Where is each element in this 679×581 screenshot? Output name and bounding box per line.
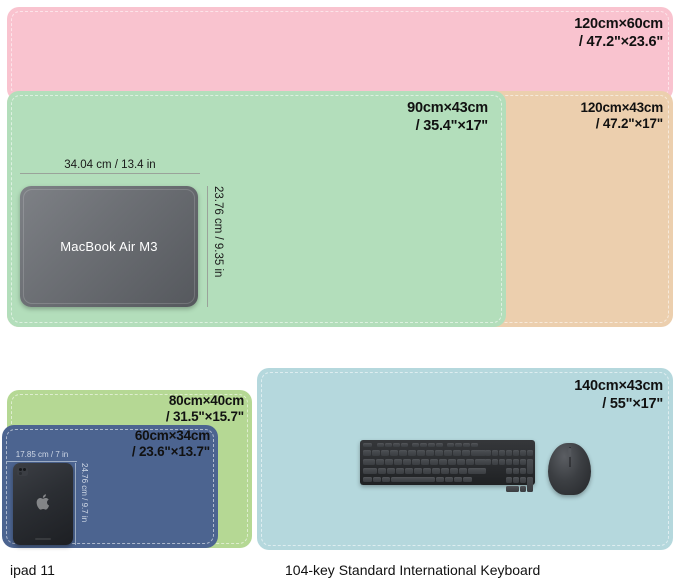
key[interactable] [513, 459, 519, 465]
ipad-height-text: 24.76 cm / 9.7 in [80, 463, 89, 522]
macbook-height-text: 23.76 cm / 9.35 in [212, 186, 224, 277]
key[interactable] [506, 477, 512, 483]
key[interactable] [376, 459, 384, 465]
key[interactable] [444, 450, 452, 456]
keyboard-bottom-row [363, 477, 473, 482]
macbook-height-rule [207, 186, 208, 307]
key[interactable] [453, 450, 461, 456]
key[interactable] [455, 443, 462, 447]
tan-mat-imperial: / 47.2"×17" [596, 116, 663, 131]
keyboard-device[interactable] [360, 440, 535, 485]
key[interactable] [520, 468, 526, 474]
keyboard-function-row [363, 443, 479, 447]
alt-key[interactable] [436, 477, 444, 482]
macbook-width-text: 34.04 cm / 13.4 in [64, 159, 155, 171]
numpad-row [506, 450, 534, 456]
key[interactable] [408, 450, 416, 456]
macbook-height-callout: 23.76 cm / 9.35 in [212, 186, 224, 307]
capslock-key[interactable] [363, 468, 377, 474]
key[interactable] [471, 443, 478, 447]
green-small-mat-dimension-label: 80cm×40cm/ 31.5"×15.7" [92, 393, 244, 426]
key[interactable] [363, 450, 371, 456]
key[interactable] [417, 450, 425, 456]
macbook-width-rule [20, 173, 200, 174]
key[interactable] [520, 450, 526, 456]
key[interactable] [435, 450, 443, 456]
key[interactable] [520, 459, 526, 465]
macbook-device[interactable]: MacBook Air M3 [20, 186, 198, 307]
teal-mat-metric: 140cm×43cm [574, 378, 663, 394]
key[interactable] [401, 443, 408, 447]
plus-key[interactable] [527, 459, 533, 474]
key[interactable] [492, 450, 498, 456]
alt-key[interactable] [382, 477, 390, 482]
key[interactable] [405, 468, 413, 474]
key[interactable] [394, 459, 402, 465]
spacebar-key[interactable] [391, 477, 435, 482]
key[interactable] [393, 443, 400, 447]
green-large-mat-dimension-label: 90cm×43cm/ 35.4"×17" [318, 100, 488, 135]
mouse-device[interactable] [548, 443, 591, 495]
key[interactable] [450, 468, 458, 474]
key[interactable] [513, 468, 519, 474]
key[interactable] [403, 459, 411, 465]
key[interactable] [387, 468, 395, 474]
key[interactable] [485, 459, 491, 465]
key[interactable] [492, 459, 498, 465]
ipad-device[interactable] [13, 463, 73, 545]
ipad-height-callout: 24.76 cm / 9.7 in [80, 463, 89, 545]
key[interactable] [414, 468, 422, 474]
ctrl-key[interactable] [363, 477, 372, 482]
key[interactable] [399, 450, 407, 456]
backspace-key[interactable] [471, 450, 486, 456]
tan-mat-dimension-label: 120cm×43cm/ 47.2"×17" [581, 100, 663, 133]
key[interactable] [499, 459, 505, 465]
navy-mat-metric: 60cm×34cm [135, 428, 210, 443]
key[interactable] [381, 450, 389, 456]
keyboard-caption: 104-key Standard International Keyboard [285, 562, 540, 578]
key[interactable] [426, 450, 434, 456]
keyboard-nav-cluster-2 [485, 459, 506, 465]
green-small-mat-imperial: / 31.5"×15.7" [166, 409, 244, 424]
mouse-scroll-wheel[interactable] [568, 448, 572, 457]
key[interactable] [423, 468, 431, 474]
teal-mat-dimension-label: 140cm×43cm/ 55"×17" [574, 378, 663, 413]
pink-mat-dimension-label: 120cm×60cm/ 47.2"×23.6" [574, 16, 663, 51]
ipad-width-rule [7, 461, 77, 462]
keyboard-home-row [363, 468, 487, 474]
key[interactable] [421, 459, 429, 465]
key[interactable] [520, 477, 526, 483]
ipad-width-text: 17.85 cm / 7 in [16, 450, 68, 459]
macbook-label: MacBook Air M3 [60, 239, 157, 254]
size-comparison-chart: 120cm×60cm/ 47.2"×23.6" 120cm×43cm/ 47.2… [0, 0, 679, 581]
key[interactable] [457, 459, 465, 465]
tab-key[interactable] [363, 459, 375, 465]
key[interactable] [506, 450, 512, 456]
key[interactable] [527, 450, 533, 456]
key[interactable] [506, 468, 512, 474]
key[interactable] [459, 468, 467, 474]
key[interactable] [372, 450, 380, 456]
key[interactable] [412, 443, 419, 447]
key[interactable] [432, 468, 440, 474]
teal-mat-imperial: / 55"×17" [602, 396, 663, 412]
macbook-width-callout: 34.04 cm / 13.4 in [20, 159, 200, 174]
fn-key[interactable] [445, 477, 453, 482]
numpad-row [506, 468, 527, 474]
key[interactable] [363, 443, 372, 447]
shift-key[interactable] [468, 468, 486, 474]
key[interactable] [377, 443, 384, 447]
tan-mat-metric: 120cm×43cm [581, 100, 663, 115]
key[interactable] [441, 468, 449, 474]
pink-mat-imperial: / 47.2"×23.6" [579, 34, 663, 50]
ipad-height-rule [75, 463, 76, 545]
key[interactable] [462, 450, 470, 456]
navy-mat-imperial: / 23.6"×13.7" [132, 444, 210, 459]
green-small-mat-metric: 80cm×40cm [169, 393, 244, 408]
key[interactable] [436, 443, 443, 447]
green-large-mat-metric: 90cm×43cm [407, 100, 488, 116]
key[interactable] [396, 468, 404, 474]
numpad-row [506, 486, 527, 492]
ipad-bottom-accent [35, 538, 51, 540]
key[interactable] [513, 477, 519, 483]
key[interactable] [513, 450, 519, 456]
key[interactable] [378, 468, 386, 474]
key[interactable] [439, 459, 447, 465]
key[interactable] [463, 443, 470, 447]
camera-module-icon [17, 467, 28, 476]
keyboard-qwerty-row [363, 459, 487, 465]
menu-key[interactable] [454, 477, 462, 482]
key[interactable] [485, 450, 491, 456]
green-large-mat-imperial: / 35.4"×17" [416, 118, 488, 134]
pink-mat-metric: 120cm×60cm [574, 16, 663, 32]
keyboard-nav-cluster [485, 450, 506, 456]
pink-mat[interactable] [7, 7, 673, 101]
key[interactable] [466, 459, 474, 465]
key[interactable] [520, 486, 526, 492]
keyboard-number-row [363, 450, 487, 456]
key[interactable] [506, 459, 512, 465]
key[interactable] [420, 443, 427, 447]
navy-mat-dimension-label: 60cm×34cm/ 23.6"×13.7" [62, 428, 210, 461]
key[interactable] [499, 450, 505, 456]
ctrl-key[interactable] [463, 477, 472, 482]
zero-key[interactable] [506, 486, 519, 492]
ipad-width-callout: 17.85 cm / 7 in [7, 450, 77, 462]
key[interactable] [430, 459, 438, 465]
key[interactable] [448, 459, 456, 465]
key[interactable] [412, 459, 420, 465]
key[interactable] [428, 443, 435, 447]
key[interactable] [385, 459, 393, 465]
key[interactable] [385, 443, 392, 447]
key[interactable] [447, 443, 454, 447]
enter-key[interactable] [527, 477, 533, 492]
ipad-caption: ipad 11 [10, 562, 55, 578]
win-key[interactable] [373, 477, 381, 482]
apple-logo-icon [36, 493, 51, 510]
key[interactable] [390, 450, 398, 456]
